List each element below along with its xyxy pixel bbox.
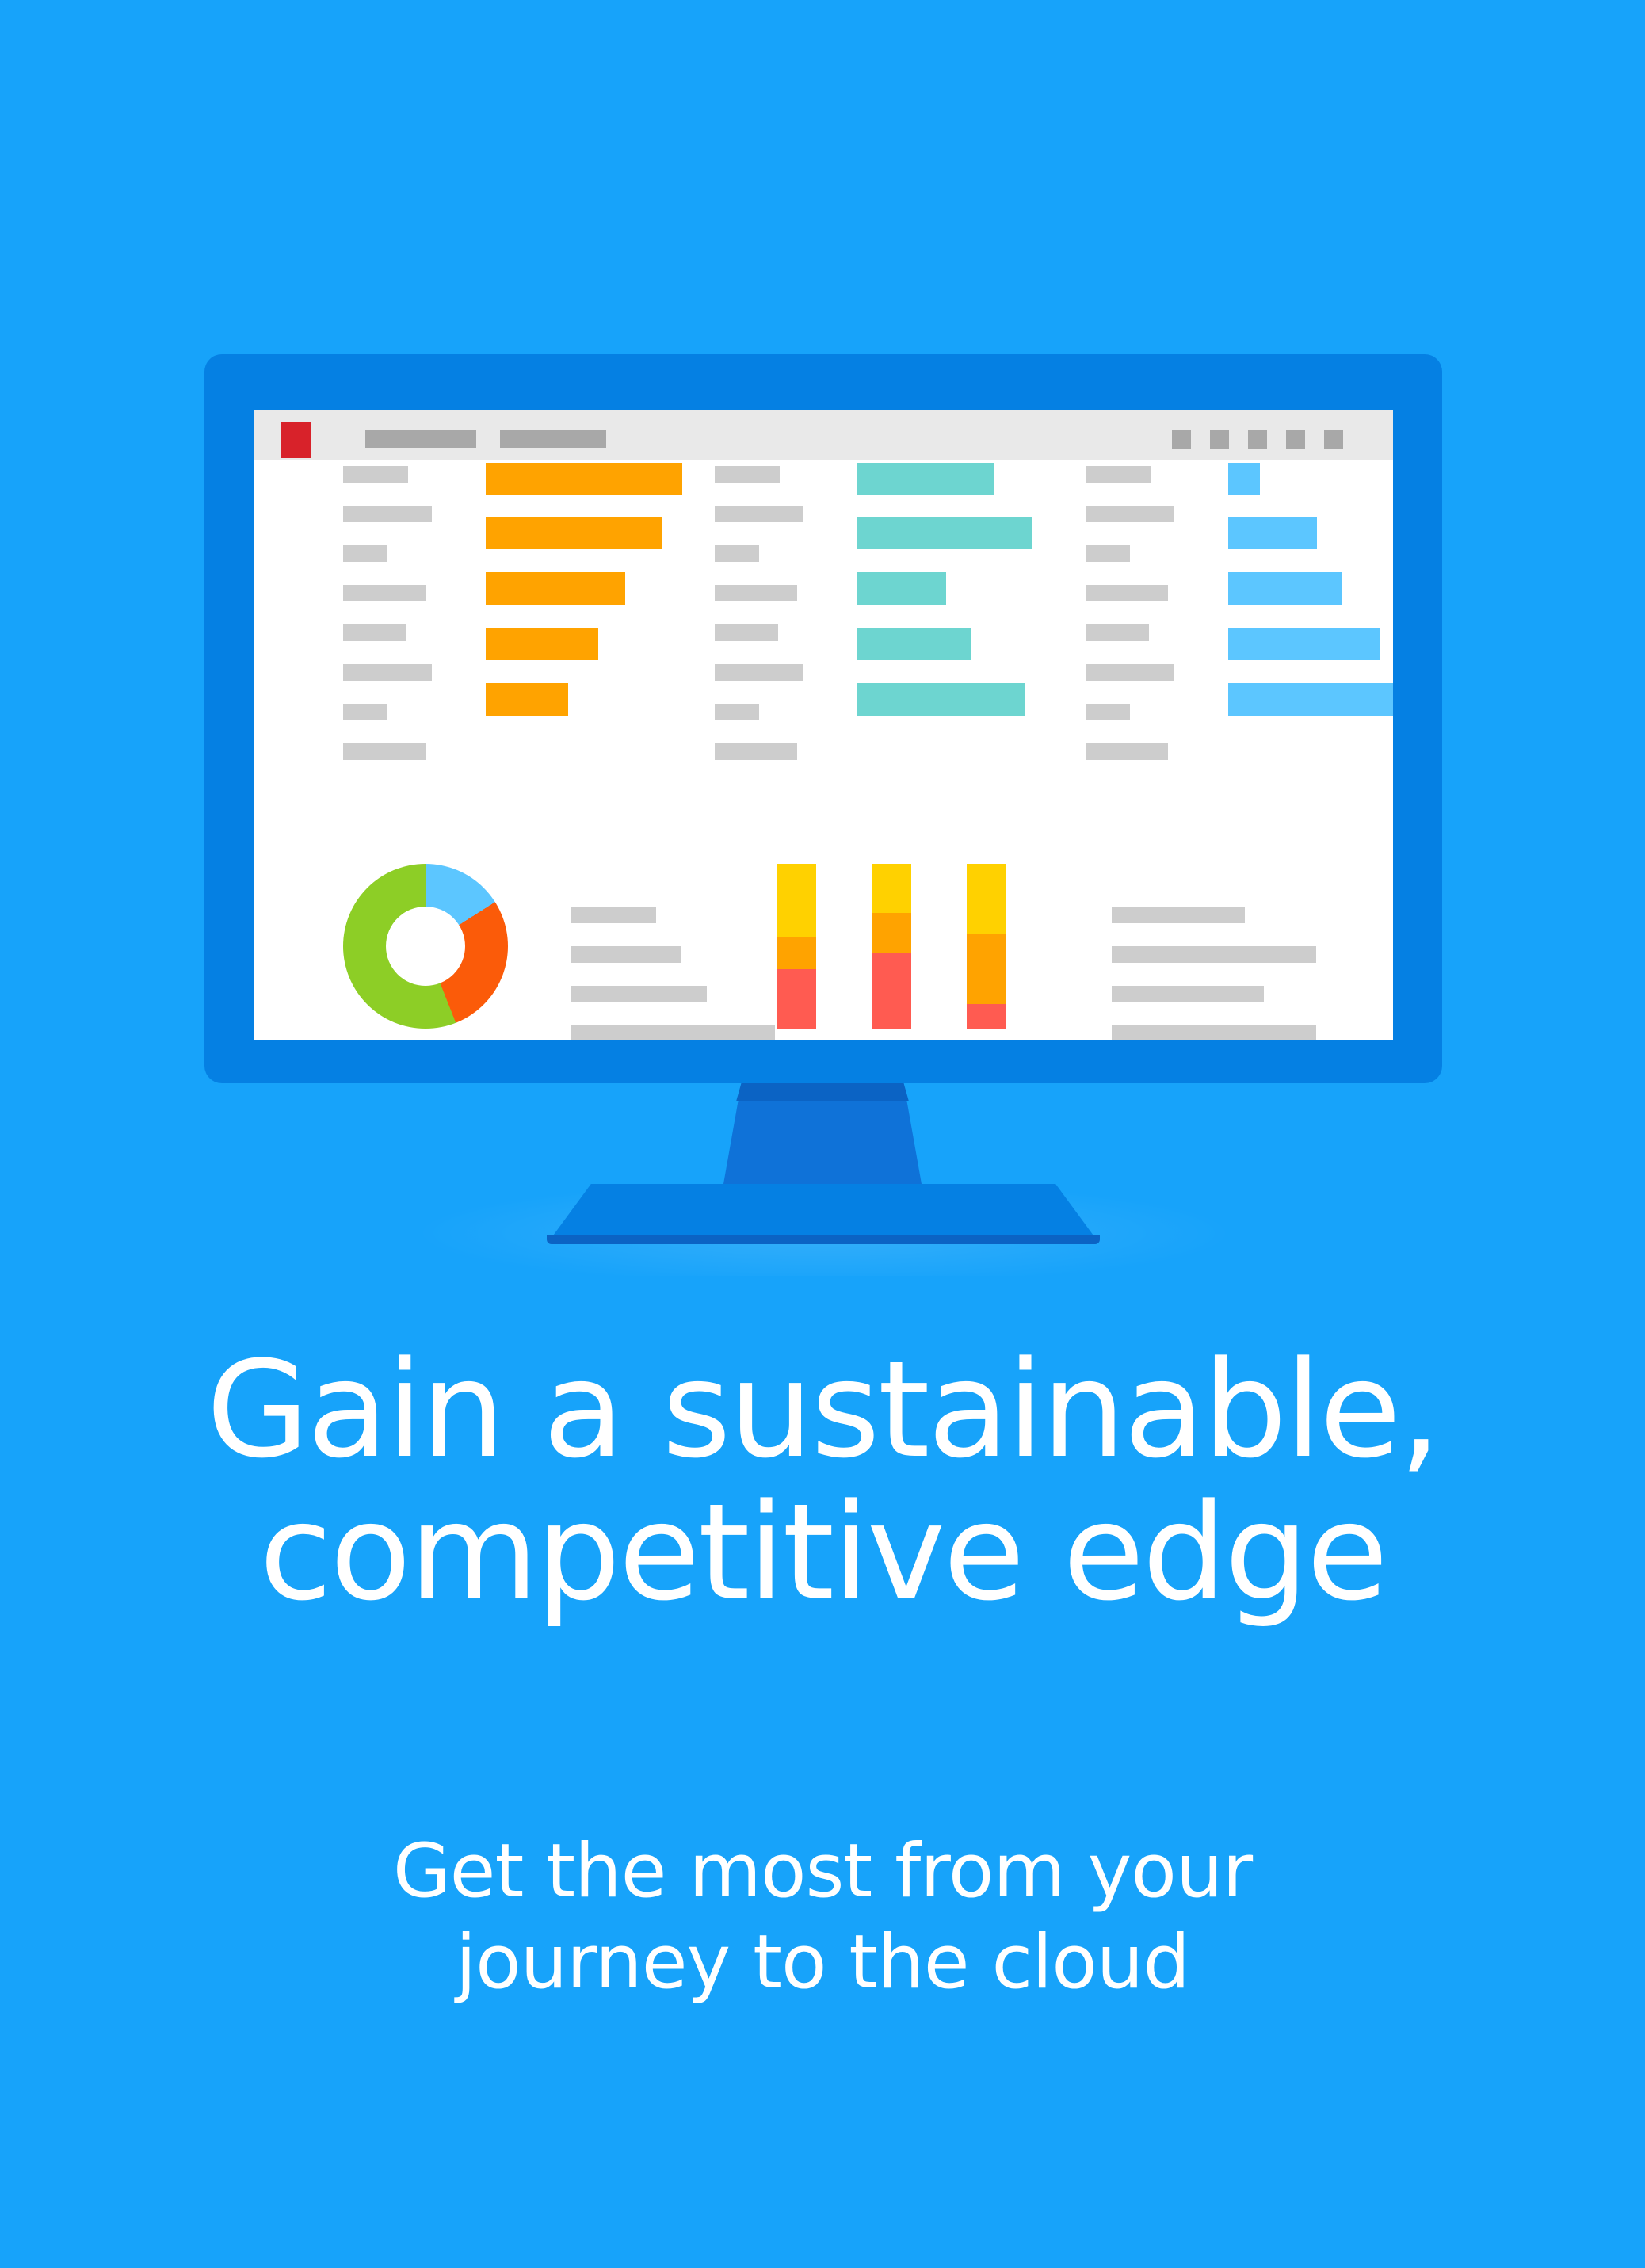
- list-row-label: [343, 624, 406, 641]
- list-row-label: [1086, 545, 1130, 562]
- donut-chart: [343, 864, 508, 1029]
- list-row-bar: [1228, 517, 1317, 549]
- bar-segment: [967, 1004, 1006, 1029]
- bar-segment: [872, 913, 911, 953]
- list-row-bar: [857, 628, 971, 660]
- caption-line: [1112, 1025, 1316, 1040]
- list-row-label: [715, 545, 759, 562]
- browser-logo-icon: [281, 422, 311, 458]
- list-row-label: [715, 743, 797, 760]
- caption-line: [571, 1025, 775, 1040]
- toolbar-menu-item[interactable]: [365, 430, 476, 448]
- bar-segment: [872, 864, 911, 913]
- page-subheadline: Get the most from your journey to the cl…: [0, 1827, 1645, 2008]
- list-row-label: [343, 545, 387, 562]
- toolbar-icon[interactable]: [1172, 430, 1191, 449]
- page-headline: Gain a sustainable, competitive edge: [0, 1339, 1645, 1625]
- list-row-bar: [857, 572, 946, 605]
- list-row-label: [715, 466, 780, 483]
- list-row-label: [715, 506, 803, 522]
- toolbar-icon[interactable]: [1324, 430, 1343, 449]
- list-row-bar: [486, 517, 662, 549]
- list-row-label: [715, 624, 778, 641]
- list-row-label: [1086, 624, 1149, 641]
- monitor-base-edge: [547, 1235, 1100, 1244]
- caption-line: [571, 946, 681, 963]
- caption-line: [1112, 986, 1264, 1002]
- toolbar-icon[interactable]: [1286, 430, 1305, 449]
- stacked-bar: [777, 864, 816, 1029]
- poster-canvas: Gain a sustainable, competitive edge Get…: [0, 0, 1645, 2268]
- toolbar-icon[interactable]: [1248, 430, 1267, 449]
- list-row-label: [343, 506, 432, 522]
- list-row-bar: [1228, 463, 1260, 495]
- list-row-label: [715, 704, 759, 720]
- bar-segment: [777, 864, 816, 937]
- list-row-bar: [857, 517, 1032, 549]
- list-row-label: [343, 585, 426, 601]
- caption-line: [571, 986, 707, 1002]
- toolbar-icon[interactable]: [1210, 430, 1229, 449]
- subhead-line-2: journey to the cloud: [0, 1918, 1645, 2009]
- list-row-bar: [857, 463, 994, 495]
- list-row-bar: [486, 683, 568, 716]
- list-row-bar: [1228, 572, 1342, 605]
- list-row-label: [715, 585, 797, 601]
- subhead-line-1: Get the most from your: [0, 1827, 1645, 1918]
- list-row-bar: [486, 572, 625, 605]
- browser-toolbar: [254, 410, 1393, 460]
- list-row-label: [343, 466, 408, 483]
- stacked-bar: [967, 864, 1006, 1029]
- list-row-label: [1086, 704, 1130, 720]
- bar-segment: [777, 969, 816, 1029]
- monitor-illustration: [0, 0, 1645, 1268]
- headline-line-2: competitive edge: [0, 1482, 1645, 1625]
- caption-line: [1112, 946, 1316, 963]
- list-row-bar: [1228, 683, 1393, 716]
- caption-line: [571, 907, 656, 923]
- list-row-bar: [486, 628, 598, 660]
- list-row-label: [343, 743, 426, 760]
- list-row-label: [715, 664, 803, 681]
- bar-segment: [967, 934, 1006, 1003]
- bar-segment: [777, 937, 816, 970]
- list-row-label: [343, 704, 387, 720]
- donut-hole: [386, 907, 465, 986]
- dashboard-list-columns: [254, 460, 1393, 792]
- monitor-stand-neck: [723, 1083, 922, 1101]
- caption-line: [1112, 907, 1245, 923]
- list-row-label: [343, 664, 432, 681]
- list-row-bar: [1228, 628, 1380, 660]
- bar-segment: [872, 953, 911, 1029]
- list-row-label: [1086, 585, 1168, 601]
- list-row-bar: [857, 683, 1025, 716]
- list-row-label: [1086, 664, 1174, 681]
- headline-line-1: Gain a sustainable,: [0, 1339, 1645, 1482]
- list-row-bar: [486, 463, 682, 495]
- monitor-screen: [254, 410, 1393, 1040]
- stacked-bar: [872, 864, 911, 1029]
- list-row-label: [1086, 506, 1174, 522]
- list-row-label: [1086, 743, 1168, 760]
- bar-segment: [967, 864, 1006, 934]
- list-row-label: [1086, 466, 1151, 483]
- toolbar-menu-item[interactable]: [500, 430, 606, 448]
